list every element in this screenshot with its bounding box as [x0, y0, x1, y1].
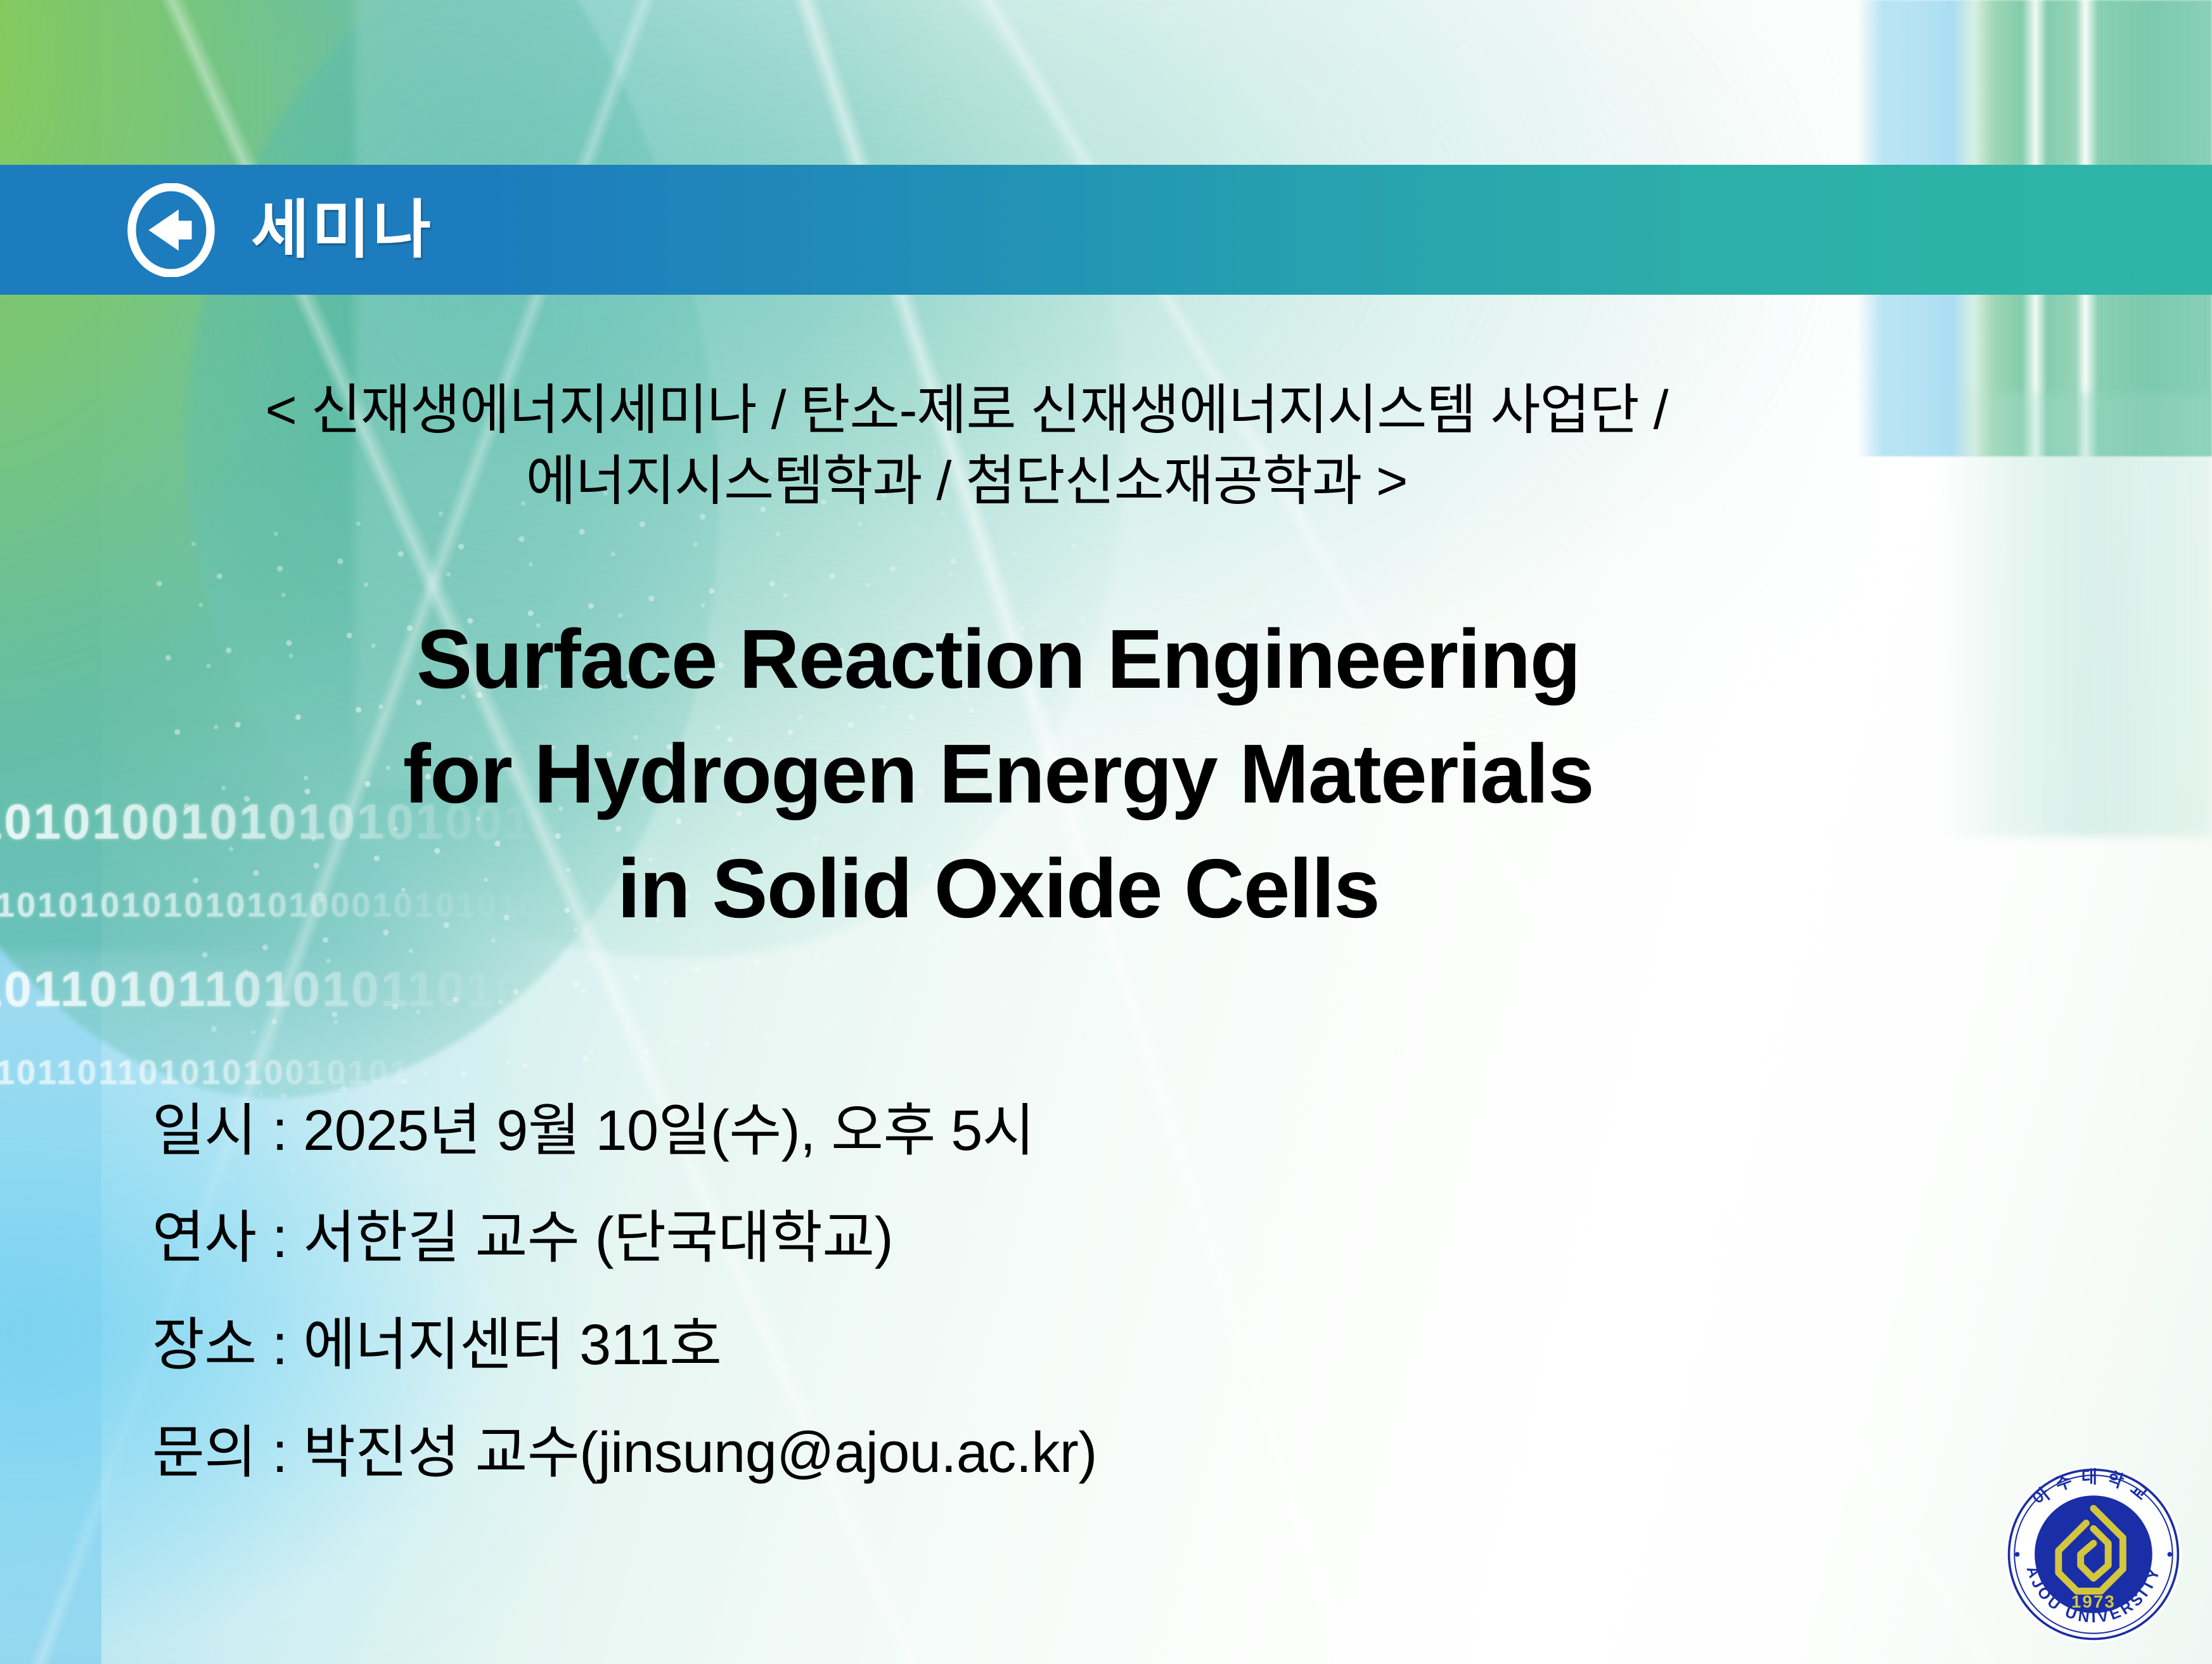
logo-dot-right — [2168, 1552, 2173, 1557]
poster-title: Surface Reaction Engineering for Hydroge… — [0, 602, 1997, 946]
detail-contact: 문의 : 박진성 교수(jinsung@ajou.ac.kr) — [152, 1400, 1097, 1507]
poster-content: < 신재생에너지세미나 / 탄소-제로 신재생에너지시스템 사업단 / 에너지시… — [0, 0, 2212, 1664]
subtitle-line-1: < 신재생에너지세미나 / 탄소-제로 신재생에너지시스템 사업단 / — [0, 375, 1933, 446]
title-line-1: Surface Reaction Engineering — [0, 602, 1997, 717]
seminar-poster: 1010100101010101001010101010 01010101010… — [0, 0, 2212, 1664]
title-line-2: for Hydrogen Energy Materials — [0, 717, 1997, 832]
detail-datetime: 일시 : 2025년 9월 10일(수), 오후 5시 — [152, 1078, 1097, 1185]
logo-dot-left — [2015, 1552, 2020, 1557]
poster-subtitle: < 신재생에너지세미나 / 탄소-제로 신재생에너지시스템 사업단 / 에너지시… — [0, 375, 1933, 517]
title-line-3: in Solid Oxide Cells — [0, 832, 1997, 946]
detail-location: 장소 : 에너지센터 311호 — [152, 1292, 1097, 1399]
ajou-university-logo: 1973 아주대학교 AJOU UNIVERSITY — [2002, 1462, 2185, 1646]
subtitle-line-2: 에너지시스템학과 / 첨단신소재공학과 > — [0, 446, 1933, 517]
poster-details: 일시 : 2025년 9월 10일(수), 오후 5시 연사 : 서한길 교수 … — [152, 1078, 1097, 1507]
detail-speaker: 연사 : 서한길 교수 (단국대학교) — [152, 1185, 1097, 1292]
